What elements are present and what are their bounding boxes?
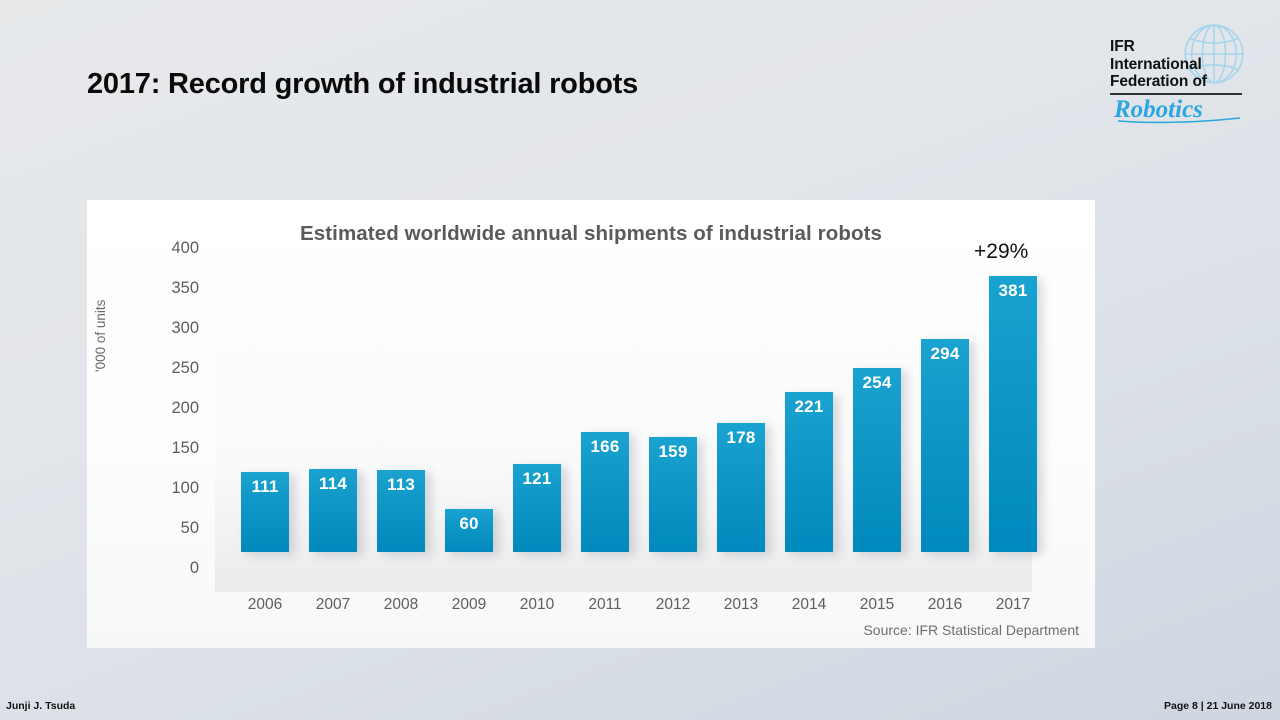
bar-value-label: 178 [717, 428, 765, 448]
bar-2010[interactable]: 121 [513, 464, 561, 552]
bar-value-label: 294 [921, 344, 969, 364]
x-tick-label: 2006 [231, 596, 299, 614]
bar-value-label: 166 [581, 437, 629, 457]
logo-line-2: International [1110, 56, 1242, 74]
bar-2011[interactable]: 166 [581, 432, 629, 552]
bar-series: 1112006114200711320086020091212010166201… [215, 260, 1032, 592]
bar-2007[interactable]: 114 [309, 469, 357, 552]
chart-title: Estimated worldwide annual shipments of … [87, 220, 1095, 248]
y-tick-label: 100 [87, 480, 199, 496]
y-tick-label: 150 [87, 440, 199, 456]
logo-line-1: IFR [1110, 38, 1242, 56]
bar-group: 1592012 [649, 260, 697, 592]
growth-annotation: +29% [974, 240, 1028, 264]
bar-2016[interactable]: 294 [921, 339, 969, 552]
bar-group: 2942016 [921, 260, 969, 592]
y-tick-label: 50 [87, 520, 199, 536]
y-axis-title: '000 of units [93, 300, 108, 372]
bar-group: 602009 [445, 260, 493, 592]
bar-value-label: 111 [241, 477, 289, 497]
x-tick-label: 2015 [843, 596, 911, 614]
bar-2009[interactable]: 60 [445, 509, 493, 553]
x-tick-label: 2009 [435, 596, 503, 614]
x-tick-label: 2013 [707, 596, 775, 614]
bar-value-label: 114 [309, 474, 357, 494]
x-tick-label: 2012 [639, 596, 707, 614]
x-tick-label: 2014 [775, 596, 843, 614]
logo-text: IFR International Federation of [1110, 38, 1242, 91]
ifr-logo: IFR International Federation of Robotics [1110, 18, 1258, 122]
footer-page-date: Page 8 | 21 June 2018 [1164, 700, 1272, 712]
bar-group: 2542015 [853, 260, 901, 592]
bar-group: 1212010 [513, 260, 561, 592]
bar-group: 1662011 [581, 260, 629, 592]
logo-line-3: Federation of [1110, 73, 1242, 91]
y-tick-label: 200 [87, 400, 199, 416]
bar-value-label: 159 [649, 442, 697, 462]
y-tick-label: 400 [87, 240, 199, 256]
bar-value-label: 381 [989, 281, 1037, 301]
bar-group: 3812017 [989, 260, 1037, 592]
bar-value-label: 221 [785, 397, 833, 417]
chart-panel: Estimated worldwide annual shipments of … [87, 200, 1095, 648]
x-tick-label: 2007 [299, 596, 367, 614]
page-title: 2017: Record growth of industrial robots [87, 68, 638, 101]
bar-value-label: 254 [853, 373, 901, 393]
bar-2017[interactable]: 381 [989, 276, 1037, 552]
bar-2015[interactable]: 254 [853, 368, 901, 552]
source-note: Source: IFR Statistical Department [863, 622, 1079, 638]
bar-2014[interactable]: 221 [785, 392, 833, 552]
x-tick-label: 2016 [911, 596, 979, 614]
bar-group: 1782013 [717, 260, 765, 592]
x-tick-label: 2010 [503, 596, 571, 614]
robotics-script-text: Robotics [1113, 96, 1203, 123]
y-tick-label: 0 [87, 560, 199, 576]
bar-group: 2212014 [785, 260, 833, 592]
bar-2013[interactable]: 178 [717, 423, 765, 552]
x-tick-label: 2017 [979, 596, 1047, 614]
bar-group: 1142007 [309, 260, 357, 592]
bar-group: 1132008 [377, 260, 425, 592]
x-tick-label: 2011 [571, 596, 639, 614]
bar-value-label: 121 [513, 469, 561, 489]
plot-area: 1112006114200711320086020091212010166201… [215, 260, 1032, 592]
bar-2008[interactable]: 113 [377, 470, 425, 552]
bar-value-label: 60 [445, 514, 493, 534]
bar-2012[interactable]: 159 [649, 437, 697, 552]
bar-group: 1112006 [241, 260, 289, 592]
y-tick-label: 350 [87, 280, 199, 296]
x-tick-label: 2008 [367, 596, 435, 614]
bar-value-label: 113 [377, 475, 425, 495]
robotics-script-wordmark: Robotics [1112, 94, 1252, 124]
bar-2006[interactable]: 111 [241, 472, 289, 552]
footer-author: Junji J. Tsuda [6, 700, 75, 712]
